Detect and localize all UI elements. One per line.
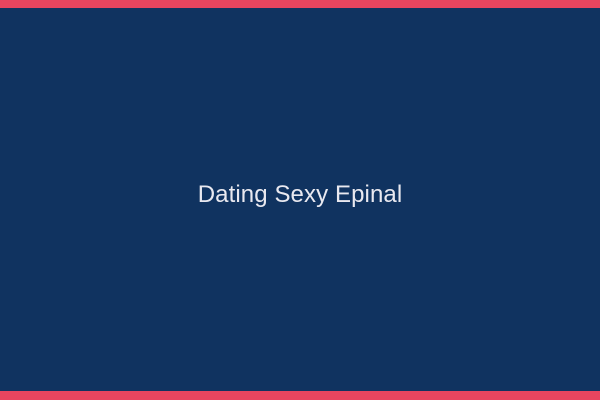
card-body: Dating Sexy Epinal (0, 8, 600, 391)
top-accent-bar (0, 0, 600, 8)
page-title: Dating Sexy Epinal (198, 181, 403, 209)
bottom-accent-bar (0, 391, 600, 400)
placeholder-card: Dating Sexy Epinal (0, 0, 600, 400)
